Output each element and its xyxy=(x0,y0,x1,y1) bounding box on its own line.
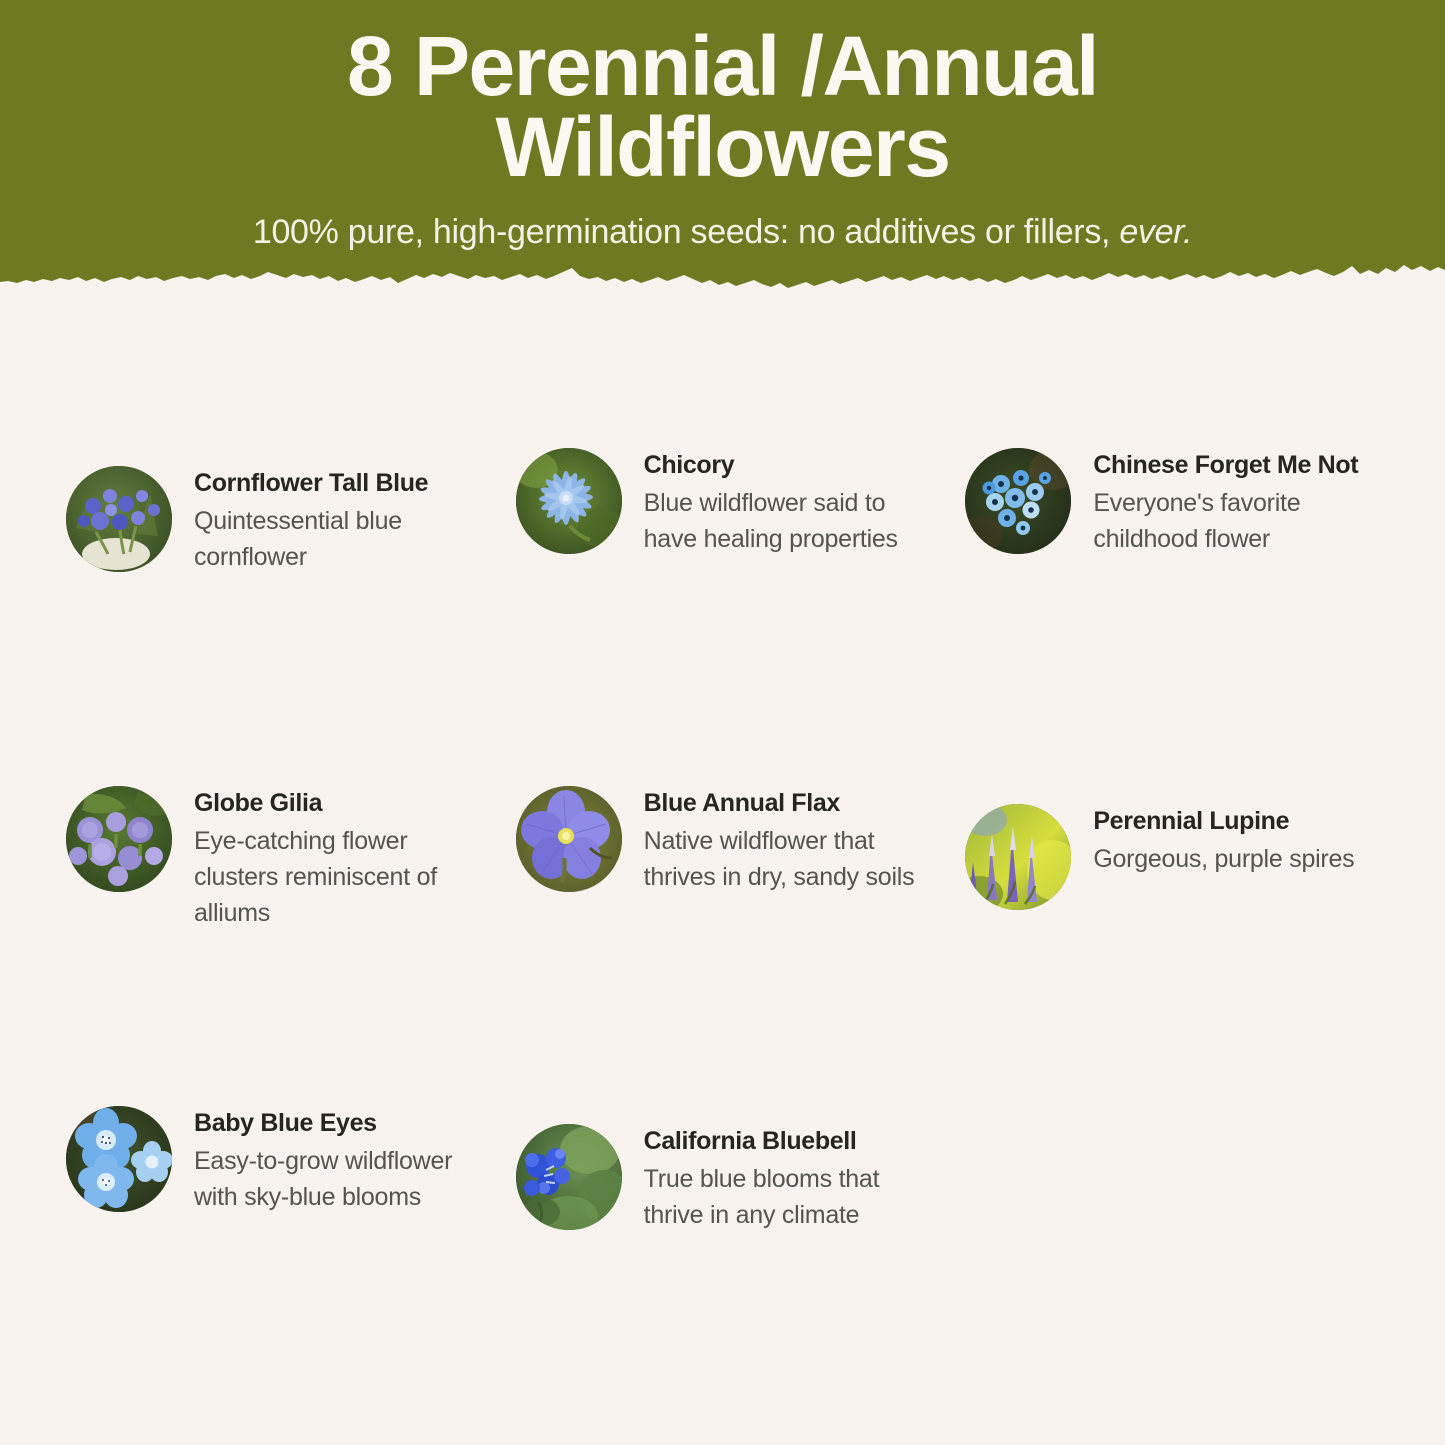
flower-name: Blue Annual Flax xyxy=(644,788,924,820)
list-item: Chinese Forget Me Not Everyone's favorit… xyxy=(965,430,1415,750)
flower-description: Everyone's favorite childhood flower xyxy=(1093,485,1373,558)
list-item: Chicory Blue wildflower said to have hea… xyxy=(516,430,966,750)
flower-description: True blue blooms that thrive in any clim… xyxy=(644,1161,924,1234)
subtitle-emphasis-text: ever. xyxy=(1119,213,1192,251)
flower-info: Chicory Blue wildflower said to have hea… xyxy=(644,448,924,557)
flower-name: Globe Gilia xyxy=(194,788,474,820)
flower-info: Blue Annual Flax Native wildflower that … xyxy=(644,786,924,895)
list-item: Globe Gilia Eye-catching flower clusters… xyxy=(66,750,516,1070)
wildflower-list: Cornflower Tall Blue Quintessential blue… xyxy=(0,430,1445,1390)
page-subtitle: 100% pure, high-germination seeds: no ad… xyxy=(103,213,1343,252)
list-item: Perennial Lupine Gorgeous, purple spires xyxy=(965,750,1415,1070)
baby-blue-eyes-photo xyxy=(66,1106,172,1212)
list-item: Blue Annual Flax Native wildflower that … xyxy=(516,750,966,1070)
flower-name: Baby Blue Eyes xyxy=(194,1108,474,1140)
header-banner: 8 Perennial /Annual Wildflowers 100% pur… xyxy=(0,0,1445,312)
flower-info: Globe Gilia Eye-catching flower clusters… xyxy=(194,786,474,931)
list-item: Cornflower Tall Blue Quintessential blue… xyxy=(66,430,516,750)
blue-annual-flax-photo xyxy=(516,786,622,892)
list-item: Baby Blue Eyes Easy-to-grow wildflower w… xyxy=(66,1070,516,1390)
flower-info: Perennial Lupine Gorgeous, purple spires xyxy=(1093,804,1373,877)
flower-name: Chicory xyxy=(644,450,924,482)
chinese-forget-me-not-photo xyxy=(965,448,1071,554)
flower-name: Perennial Lupine xyxy=(1093,806,1373,838)
flower-info: California Bluebell True blue blooms tha… xyxy=(644,1124,924,1233)
flower-description: Blue wildflower said to have healing pro… xyxy=(644,485,924,558)
flower-description: Native wildflower that thrives in dry, s… xyxy=(644,823,924,896)
flower-info: Chinese Forget Me Not Everyone's favorit… xyxy=(1093,448,1373,557)
flower-description: Eye-catching flower clusters reminiscent… xyxy=(194,823,474,932)
flower-description: Gorgeous, purple spires xyxy=(1093,841,1373,877)
globe-gilia-photo xyxy=(66,786,172,892)
subtitle-lead-text: 100% pure, high-germination seeds: no ad… xyxy=(253,213,1119,251)
torn-paper-edge-icon xyxy=(0,252,1445,312)
flower-info: Baby Blue Eyes Easy-to-grow wildflower w… xyxy=(194,1106,474,1215)
flower-description: Quintessential blue cornflower xyxy=(194,503,474,576)
california-bluebell-photo xyxy=(516,1124,622,1230)
flower-name: Chinese Forget Me Not xyxy=(1093,450,1373,482)
perennial-lupine-photo xyxy=(965,804,1071,910)
chicory-photo xyxy=(516,448,622,554)
flower-name: Cornflower Tall Blue xyxy=(194,468,474,500)
list-item: California Bluebell True blue blooms tha… xyxy=(516,1070,966,1390)
cornflower-tall-blue-photo xyxy=(66,466,172,572)
flower-description: Easy-to-grow wildflower with sky-blue bl… xyxy=(194,1143,474,1216)
page-title: 8 Perennial /Annual Wildflowers xyxy=(123,26,1323,187)
flower-name: California Bluebell xyxy=(644,1126,924,1158)
flower-info: Cornflower Tall Blue Quintessential blue… xyxy=(194,466,474,575)
